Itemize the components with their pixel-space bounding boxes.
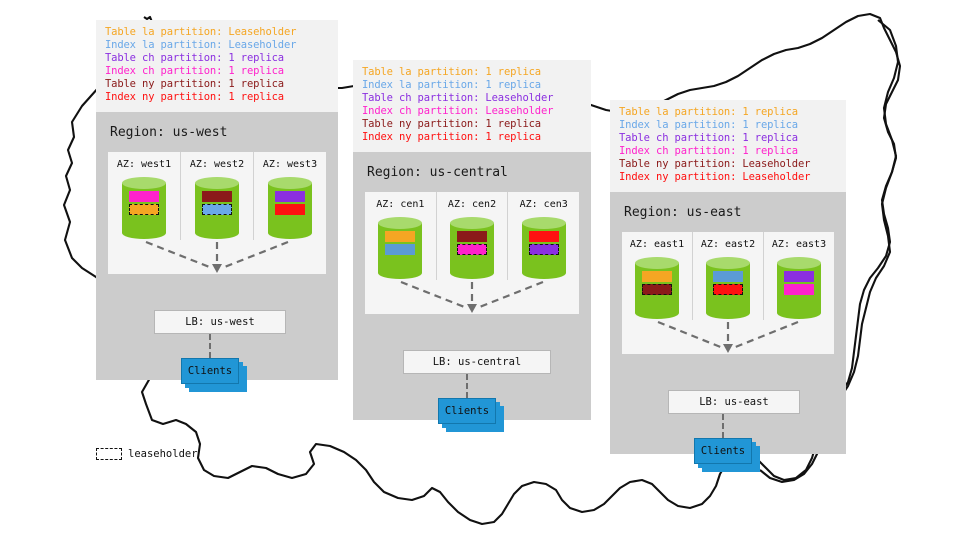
database-icon <box>522 217 566 279</box>
az-row-us-west: AZ: west1 AZ: west2 <box>108 152 326 240</box>
clients-box[interactable]: Clients <box>438 398 496 424</box>
replica-bar <box>385 231 415 242</box>
legend-line: Table ch partition: 1 replica <box>105 52 329 65</box>
az-label: AZ: cen2 <box>448 199 496 210</box>
az-cell-cen2[interactable]: AZ: cen2 <box>437 192 509 280</box>
db-bars <box>777 271 821 295</box>
az-cell-east2[interactable]: AZ: east2 <box>693 232 764 320</box>
lb-box-us-central[interactable]: LB: us-central <box>403 350 551 374</box>
database-icon <box>635 257 679 319</box>
legend-line: Table ny partition: 1 replica <box>105 78 329 91</box>
lb-to-clients-line <box>209 334 211 358</box>
db-top <box>450 217 494 229</box>
legend-line: Table la partition: Leaseholder <box>105 26 329 39</box>
legend-line: Index ch partition: Leaseholder <box>362 105 582 118</box>
replica-bar <box>713 271 743 282</box>
db-top <box>522 217 566 229</box>
legend-line: Table la partition: 1 replica <box>619 106 837 119</box>
lb-box-us-east[interactable]: LB: us-east <box>668 390 800 414</box>
replica-bar <box>202 191 232 202</box>
legend-line: Table ch partition: Leaseholder <box>362 92 582 105</box>
replica-bar <box>275 204 305 215</box>
db-top <box>122 177 166 189</box>
legend-us-east: Table la partition: 1 replica Index la p… <box>610 100 846 192</box>
db-top <box>706 257 750 269</box>
az-label: AZ: cen3 <box>520 199 568 210</box>
region-title: Region: us-east <box>610 192 846 220</box>
legend-line: Table ny partition: Leaseholder <box>619 158 837 171</box>
replica-bar <box>275 191 305 202</box>
leaseholder-legend-label: leaseholder <box>128 448 198 460</box>
clients-group-us-west[interactable]: Clients <box>181 358 251 392</box>
az-cell-west3[interactable]: AZ: west3 <box>254 152 326 240</box>
legend-line: Index ch partition: 1 replica <box>105 65 329 78</box>
legend-line: Index la partition: 1 replica <box>362 79 582 92</box>
clients-box[interactable]: Clients <box>181 358 239 384</box>
az-label: AZ: east2 <box>701 239 755 250</box>
legend-line: Index la partition: 1 replica <box>619 119 837 132</box>
db-top <box>195 177 239 189</box>
az-cell-cen3[interactable]: AZ: cen3 <box>508 192 579 280</box>
database-icon <box>706 257 750 319</box>
database-icon <box>777 257 821 319</box>
region-title: Region: us-central <box>353 152 591 180</box>
lb-to-clients-line <box>722 414 724 438</box>
connector-lines <box>622 320 834 354</box>
az-cell-west1[interactable]: AZ: west1 <box>108 152 181 240</box>
clients-group-us-east[interactable]: Clients <box>694 438 764 472</box>
az-label: AZ: east1 <box>630 239 684 250</box>
az-to-lb-connectors <box>365 280 579 314</box>
replica-bar-leaseholder <box>529 244 559 255</box>
db-bars <box>635 271 679 295</box>
region-panel-us-west: Region: us-west AZ: west1 AZ: west2 <box>96 112 338 380</box>
region-title: Region: us-west <box>96 112 338 140</box>
database-icon <box>268 177 312 239</box>
replica-bar-leaseholder <box>457 244 487 255</box>
legend-us-west: Table la partition: Leaseholder Index la… <box>96 20 338 112</box>
db-bars <box>522 231 566 255</box>
legend-line: Index ch partition: 1 replica <box>619 145 837 158</box>
replica-bar-leaseholder <box>642 284 672 295</box>
leaseholder-legend: leaseholder <box>96 448 198 460</box>
az-label: AZ: west1 <box>117 159 171 170</box>
db-top <box>268 177 312 189</box>
az-cell-west2[interactable]: AZ: west2 <box>181 152 254 240</box>
clients-box[interactable]: Clients <box>694 438 752 464</box>
legend-line: Table ny partition: 1 replica <box>362 118 582 131</box>
az-cell-east3[interactable]: AZ: east3 <box>764 232 834 320</box>
az-label: AZ: west2 <box>190 159 244 170</box>
connector-lines <box>365 280 579 314</box>
database-icon <box>122 177 166 239</box>
az-to-lb-connectors <box>108 240 326 274</box>
database-icon <box>450 217 494 279</box>
az-cell-east1[interactable]: AZ: east1 <box>622 232 693 320</box>
region-block-us-west: Table la partition: Leaseholder Index la… <box>96 20 338 380</box>
lb-box-us-west[interactable]: LB: us-west <box>154 310 286 334</box>
dashed-rect-icon <box>96 448 122 460</box>
legend-line: Index la partition: Leaseholder <box>105 39 329 52</box>
legend-line: Table ch partition: 1 replica <box>619 132 837 145</box>
replica-bar <box>642 271 672 282</box>
legend-line: Index ny partition: 1 replica <box>105 91 329 104</box>
az-label: AZ: west3 <box>263 159 317 170</box>
db-bars <box>450 231 494 255</box>
replica-bar-leaseholder <box>202 204 232 215</box>
replica-bar-leaseholder <box>713 284 743 295</box>
region-panel-us-east: Region: us-east AZ: east1 AZ: east2 <box>610 192 846 454</box>
az-row-us-central: AZ: cen1 AZ: cen2 <box>365 192 579 280</box>
az-to-lb-connectors <box>622 320 834 354</box>
db-bars <box>195 191 239 215</box>
replica-bar <box>784 284 814 295</box>
az-label: AZ: east3 <box>772 239 826 250</box>
db-top <box>378 217 422 229</box>
db-top <box>777 257 821 269</box>
database-icon <box>195 177 239 239</box>
db-bars <box>122 191 166 215</box>
replica-bar-leaseholder <box>129 204 159 215</box>
region-panel-us-central: Region: us-central AZ: cen1 AZ: cen2 <box>353 152 591 420</box>
lb-to-clients-line <box>466 374 468 398</box>
legend-line: Table la partition: 1 replica <box>362 66 582 79</box>
db-bars <box>706 271 750 295</box>
az-row-us-east: AZ: east1 AZ: east2 <box>622 232 834 320</box>
db-bars <box>378 231 422 255</box>
replica-bar <box>529 231 559 242</box>
db-bars <box>268 191 312 215</box>
az-cell-cen1[interactable]: AZ: cen1 <box>365 192 437 280</box>
replica-bar <box>385 244 415 255</box>
legend-line: Index ny partition: 1 replica <box>362 131 582 144</box>
region-block-us-east: Table la partition: 1 replica Index la p… <box>610 100 846 454</box>
database-icon <box>378 217 422 279</box>
az-label: AZ: cen1 <box>376 199 424 210</box>
legend-line: Index ny partition: Leaseholder <box>619 171 837 184</box>
replica-bar <box>457 231 487 242</box>
replica-bar <box>129 191 159 202</box>
connector-lines <box>108 240 326 274</box>
replica-bar <box>784 271 814 282</box>
region-block-us-central: Table la partition: 1 replica Index la p… <box>353 60 591 420</box>
db-top <box>635 257 679 269</box>
legend-us-central: Table la partition: 1 replica Index la p… <box>353 60 591 152</box>
clients-group-us-central[interactable]: Clients <box>438 398 508 432</box>
